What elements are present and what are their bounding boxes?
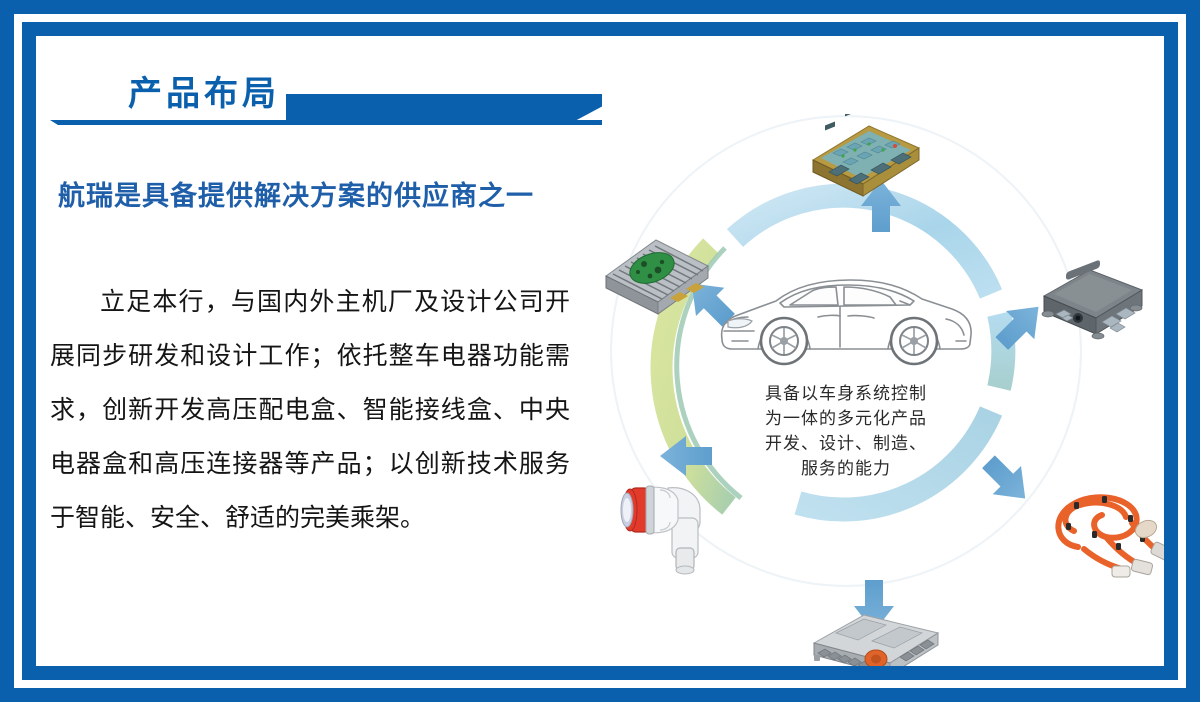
body-paragraph: 立足本行，与国内外主机厂及设计公司开展同步研发和设计工作；依托整车电器功能需求，… (50, 276, 570, 546)
heading-underline (50, 120, 602, 125)
product-orange-hv-cable-harness (1044, 471, 1164, 581)
product-gray-junction-box (1026, 254, 1156, 344)
page-title: 产品布局 (128, 74, 280, 114)
product-fuse-relay-box (791, 114, 931, 199)
caption-line-4: 服务的能力 (686, 456, 1006, 481)
product-power-distribution-unit (794, 601, 954, 666)
product-hv-connector-red-white (604, 466, 724, 576)
sedan-car-illustration (714, 261, 980, 376)
caption-line-1: 具备以车身系统控制 (686, 381, 1006, 406)
caption-line-3: 开发、设计、制造、 (686, 431, 1006, 456)
slide-root: 产品布局 航瑞是具备提供解决方案的供应商之一 立足本行，与国内外主机厂及设计公司… (0, 0, 1200, 702)
arc-right-upper (999, 314, 1003, 388)
product-layout-diagram: 具备以车身系统控制 为一体的多元化产品 开发、设计、制造、 服务的能力 (536, 66, 1156, 666)
center-caption: 具备以车身系统控制 为一体的多元化产品 开发、设计、制造、 服务的能力 (686, 381, 1006, 481)
subtitle: 航瑞是具备提供解决方案的供应商之一 (58, 174, 618, 213)
product-finned-control-module (594, 224, 719, 319)
slide-canvas: 产品布局 航瑞是具备提供解决方案的供应商之一 立足本行，与国内外主机厂及设计公司… (36, 36, 1164, 666)
caption-line-2: 为一体的多元化产品 (686, 406, 1006, 431)
